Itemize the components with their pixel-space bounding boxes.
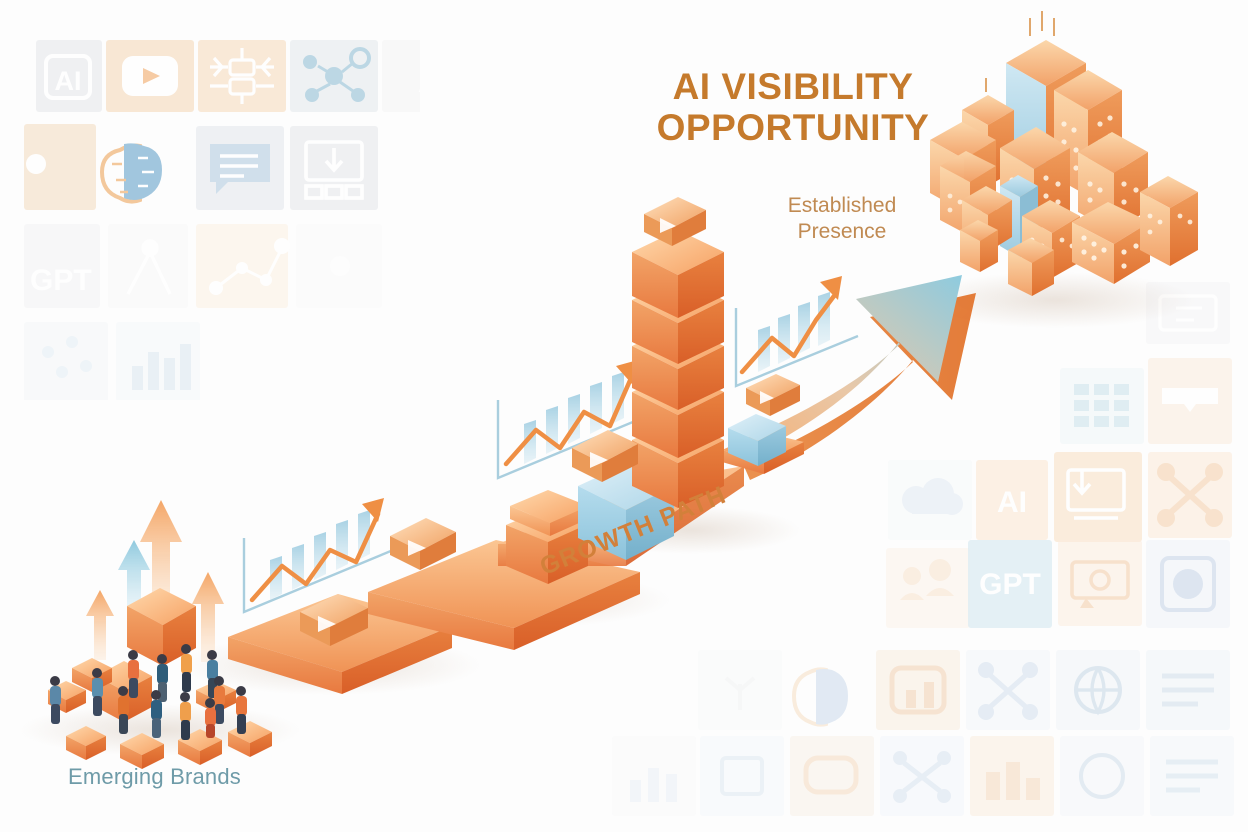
cube-stack-tall	[632, 230, 724, 508]
infographic-canvas: AI	[0, 0, 1248, 832]
person-12	[92, 668, 103, 716]
person-11	[236, 686, 247, 734]
building-far-right	[1140, 176, 1198, 266]
building-front-cube-b	[960, 220, 998, 272]
established-line-1: Established	[757, 193, 927, 219]
person-8	[151, 690, 162, 738]
isometric-scene	[0, 0, 1248, 832]
page-title: AI VISIBILITY OPPORTUNITY	[628, 66, 958, 149]
building-front-cube-a	[1008, 238, 1054, 296]
established-line-2: Presence	[757, 219, 927, 245]
person-9	[180, 692, 191, 740]
person-1	[50, 676, 61, 724]
mini-growth-chart-3	[736, 276, 858, 386]
title-line-1: AI VISIBILITY	[628, 66, 958, 107]
play-icon-tall-top	[644, 197, 706, 246]
person-7	[118, 686, 129, 734]
label-emerging-brands: Emerging Brands	[68, 764, 241, 790]
city-skyline	[930, 11, 1198, 296]
person-10	[205, 698, 216, 738]
person-4	[181, 644, 192, 692]
title-line-2: OPPORTUNITY	[628, 107, 958, 148]
label-established-presence: Established Presence	[757, 193, 927, 244]
arrow-up-1	[86, 590, 114, 660]
person-2	[128, 650, 139, 698]
play-icon-stage4	[746, 374, 800, 416]
